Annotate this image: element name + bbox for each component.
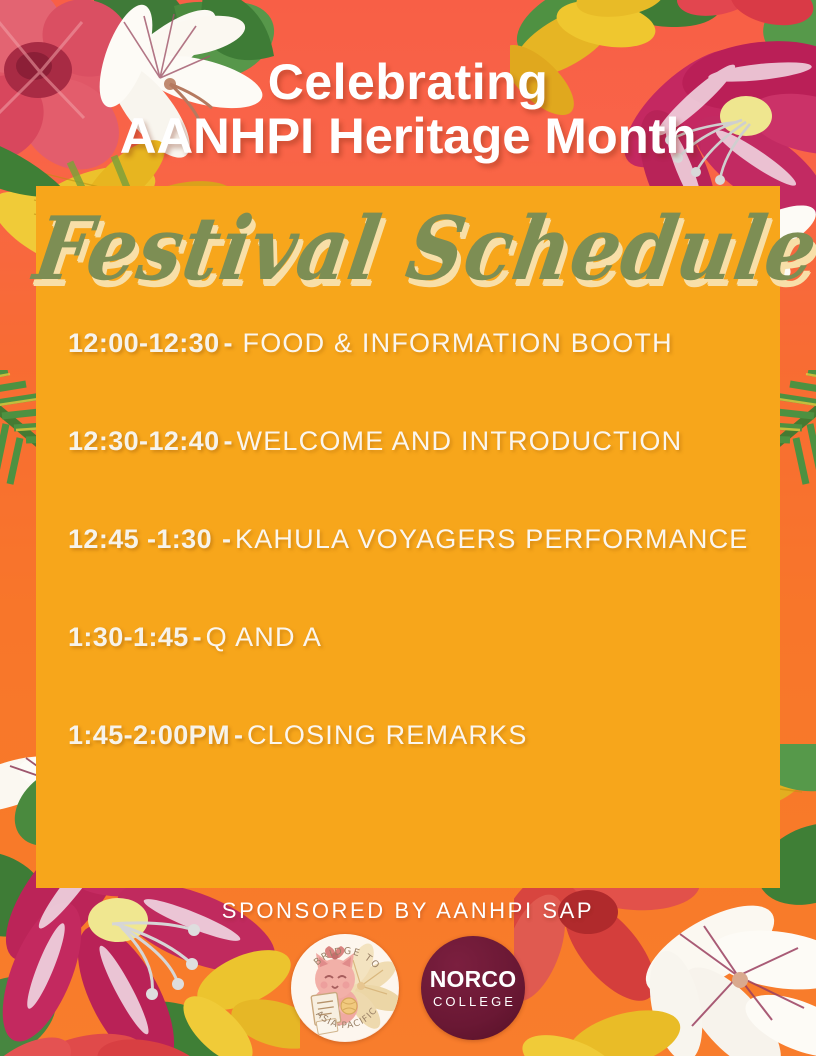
schedule-separator: -	[220, 328, 237, 359]
schedule-row: 12:00-12:30 - FOOD & INFORMATION BOOTH	[68, 328, 780, 426]
norco-logo-main-text: NORCO	[430, 968, 517, 991]
schedule-row: 12:45 -1:30 - KAHULA VOYAGERS PERFORMANC…	[68, 524, 780, 622]
schedule-list: 12:00-12:30 - FOOD & INFORMATION BOOTH 1…	[68, 328, 780, 818]
sponsor-text: SPONSORED BY AANHPI SAP	[222, 898, 594, 923]
schedule-row: 1:30-1:45 - Q AND A	[68, 622, 780, 720]
festival-schedule-title: Festival Schedule	[36, 196, 780, 306]
norco-logo-sub-text: COLLEGE	[430, 995, 516, 1008]
schedule-separator: -	[218, 524, 235, 555]
schedule-row: 1:45-2:00PM - CLOSING REMARKS	[68, 720, 780, 818]
poster-header: Celebrating AANHPI Heritage Month	[0, 56, 816, 164]
schedule-time: 12:30-12:40	[68, 426, 220, 457]
sponsor-logos: BRIDGE TO ASIA-PACIFIC NORCO COLLEGE	[0, 934, 816, 1042]
schedule-separator: -	[189, 622, 206, 653]
festival-schedule-title-text: Festival Schedule	[26, 190, 816, 311]
header-line-1: Celebrating	[0, 56, 816, 108]
schedule-event: FOOD & INFORMATION BOOTH	[243, 328, 673, 359]
schedule-event: Q AND A	[206, 622, 322, 653]
schedule-time: 12:45 -1:30	[68, 524, 212, 555]
bridge-to-asia-pacific-logo: BRIDGE TO ASIA-PACIFIC	[291, 934, 399, 1042]
schedule-time: 12:00-12:30	[68, 328, 220, 359]
festival-poster: Celebrating AANHPI Heritage Month Festiv…	[0, 0, 816, 1056]
schedule-row: 12:30-12:40 - WELCOME AND INTRODUCTION	[68, 426, 780, 524]
schedule-event: KAHULA VOYAGERS PERFORMANCE	[235, 524, 749, 555]
norco-college-logo: NORCO COLLEGE	[421, 936, 525, 1040]
schedule-event: WELCOME AND INTRODUCTION	[237, 426, 683, 457]
schedule-separator: -	[220, 426, 237, 457]
schedule-time: 1:45-2:00PM	[68, 720, 230, 751]
header-line-2: AANHPI Heritage Month	[0, 108, 816, 164]
sponsor-section: SPONSORED BY AANHPI SAP	[0, 898, 816, 924]
schedule-separator: -	[230, 720, 247, 751]
schedule-time: 1:30-1:45	[68, 622, 189, 653]
bridge-logo-art: BRIDGE TO ASIA-PACIFIC	[291, 934, 399, 1042]
schedule-event: CLOSING REMARKS	[247, 720, 528, 751]
